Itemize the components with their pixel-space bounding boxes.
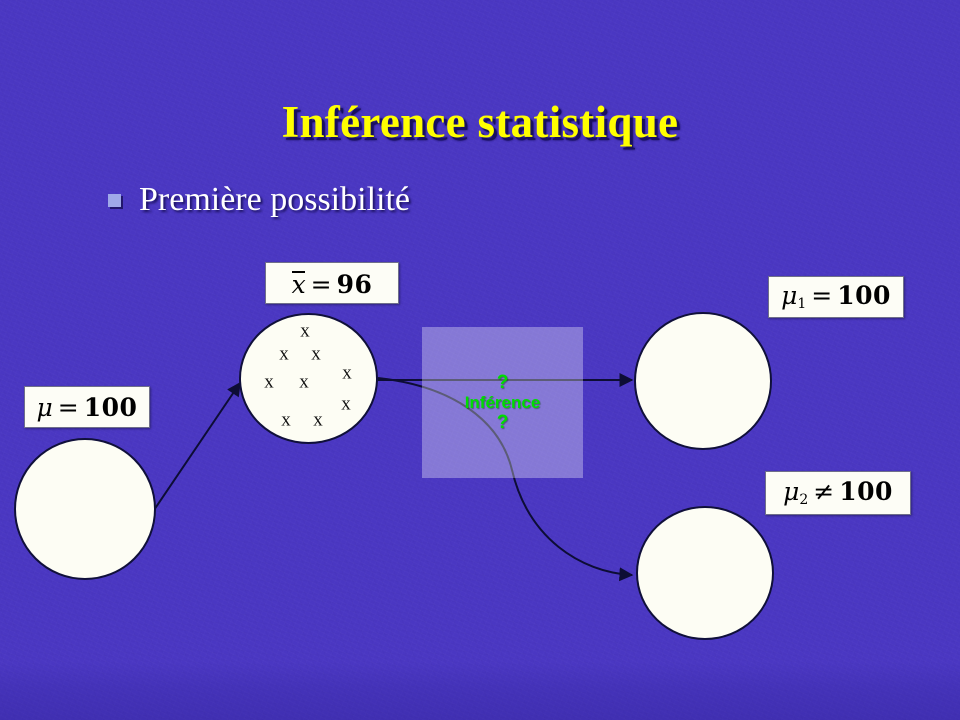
bullet-item-label: Première possibilité [139, 181, 410, 219]
mu2-value: 100 [839, 477, 893, 506]
formula-box-hypothesis-2: μ2≠100 [765, 471, 911, 515]
square-bullet-icon [108, 194, 121, 207]
not-equals-operator: ≠ [808, 477, 839, 506]
observation-mark: x [311, 345, 321, 364]
observation-mark: x [342, 364, 352, 383]
observation-mark: x [264, 373, 274, 392]
hypothesis-1-circle [634, 312, 772, 450]
bottom-shading-band [0, 662, 960, 720]
equals-operator: = [806, 281, 837, 310]
mu1-symbol: μ [781, 281, 797, 310]
slide-canvas: Inférence statistique Première possibili… [0, 0, 960, 720]
observation-mark: x [279, 345, 289, 364]
formula-box-sample-mean: x=96 [265, 262, 399, 304]
x-bar-symbol: x [292, 270, 306, 297]
equals-operator: = [306, 270, 337, 299]
mu1-subscript: 1 [797, 296, 806, 312]
x-bar-value: 96 [337, 270, 373, 299]
mu-symbol: μ [37, 393, 53, 422]
arrow-population-to-sample [152, 383, 240, 513]
hypothesis-2-circle [636, 506, 774, 640]
observation-mark: x [341, 395, 351, 414]
observation-mark: x [313, 411, 323, 430]
equals-operator: = [53, 393, 84, 422]
formula-box-hypothesis-1: μ1=100 [768, 276, 904, 318]
formula-box-population-mean: μ=100 [24, 386, 150, 428]
mu2-subscript: 2 [799, 492, 808, 508]
page-title: Inférence statistique [0, 96, 960, 148]
observation-mark: x [281, 411, 291, 430]
observation-mark: x [300, 322, 310, 341]
mu-value: 100 [84, 393, 138, 422]
mu1-value: 100 [837, 281, 891, 310]
mu2-symbol: μ [783, 477, 799, 506]
bullet-list-item: Première possibilité [108, 181, 410, 219]
inference-overlay-panel [422, 327, 583, 478]
observation-mark: x [299, 373, 309, 392]
population-circle [14, 438, 156, 580]
